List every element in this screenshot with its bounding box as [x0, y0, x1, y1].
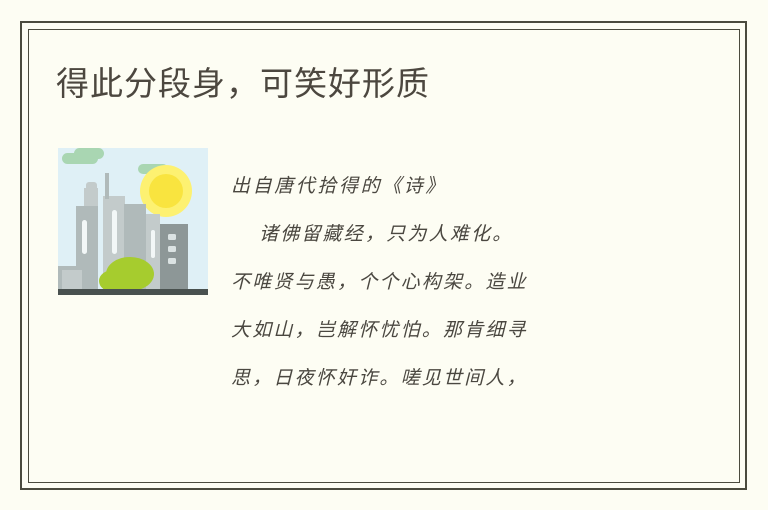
- poem-source: 出自唐代拾得的《诗》: [231, 163, 651, 211]
- poem-line: 诸佛留藏经，只为人难化。: [231, 211, 651, 259]
- page-title: 得此分段身，可笑好形质: [56, 62, 430, 106]
- city-skyline-illustration: [58, 148, 208, 296]
- sun-icon: [140, 165, 192, 217]
- poem-line: 思，日夜怀奸诈。嗟见世间人，: [231, 355, 651, 403]
- poem-text-block: 出自唐代拾得的《诗》 诸佛留藏经，只为人难化。 不唯贤与愚，个个心构架。造业 大…: [231, 163, 651, 403]
- poem-card-page: 得此分段身，可笑好形质: [0, 0, 768, 510]
- poem-line: 不唯贤与愚，个个心构架。造业: [231, 259, 651, 307]
- poem-line: 大如山，岂解怀忧怕。那肯细寻: [231, 307, 651, 355]
